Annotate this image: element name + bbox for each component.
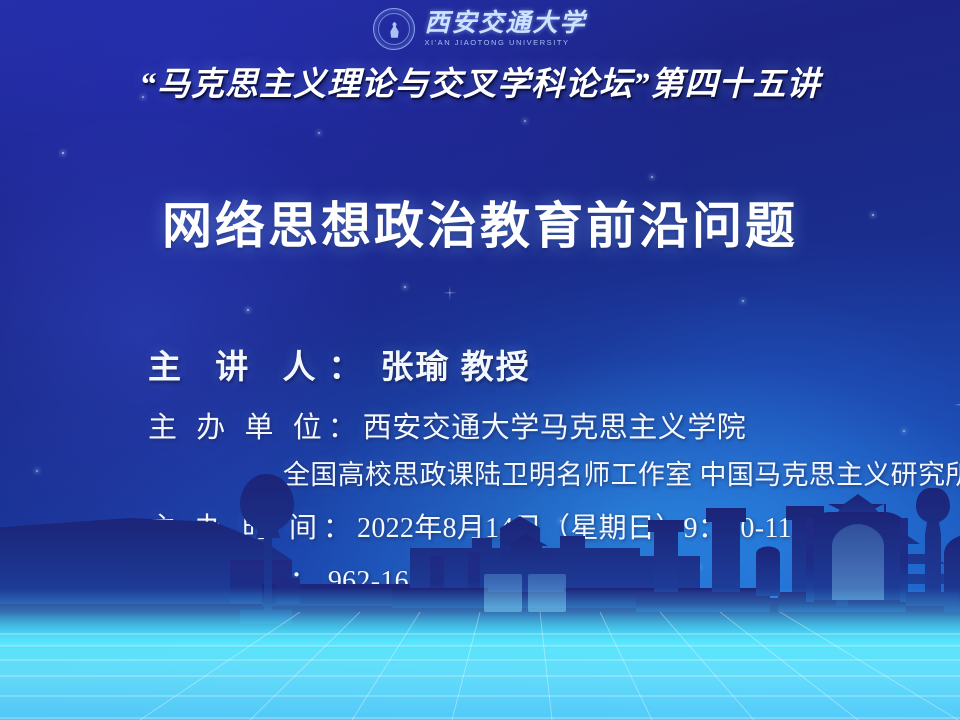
speaker-name: 张瑜 教授 [381,350,531,386]
time-row: 主 办 时 间：2022年8月14日（星期日）9：00-11：00 [0,506,960,546]
speaker-label: 主 讲 人： [148,350,375,386]
university-seal-icon [373,8,415,50]
organizer-secondary-value: 全国高校思政课陆卫明名师工作室 中国马克思主义研究所 [283,460,960,490]
university-logo: 西安交通大学 XI'AN JIAOTONG UNIVERSITY [0,6,960,52]
time-value: 2022年8月14日（星期日）9：00-11：00 [357,513,849,544]
organizer-secondary-row: 全国高校思政课陆卫明名师工作室 中国马克思主义研究所 [0,453,960,492]
organizer-value: 西安交通大学马克思主义学院 [363,412,747,444]
university-name-en: XI'AN JIAOTONG UNIVERSITY [424,39,586,47]
event-info-block: 主 讲 人：张瑜 教授 主 办 单 位：西安交通大学马克思主义学院 全国高校思政… [0,340,960,599]
perspective-grid-ground [0,612,960,720]
university-name-cn: 西安交通大学 [424,11,586,36]
speaker-row: 主 讲 人：张瑜 教授 [0,340,960,388]
university-logo-text: 西安交通大学 XI'AN JIAOTONG UNIVERSITY [424,11,586,47]
organizer-row: 主 办 单 位：西安交通大学马克思主义学院 [0,404,960,446]
forum-banner-title: “马克思主义理论与交叉学科论坛”第四十五讲 [0,57,960,105]
meeting-row: 腾讯会议号：962-165-379 [0,559,960,599]
meeting-label: 腾讯会议号： [148,566,318,597]
meeting-number: 962-165-379 [328,566,476,597]
time-label: 主 办 时 间： [148,513,357,544]
page-title: 网络思想政治教育前沿问题 [0,186,960,258]
organizer-label: 主 办 单 位： [148,412,363,444]
presentation-slide: 西安交通大学 XI'AN JIAOTONG UNIVERSITY “马克思主义理… [0,0,960,720]
